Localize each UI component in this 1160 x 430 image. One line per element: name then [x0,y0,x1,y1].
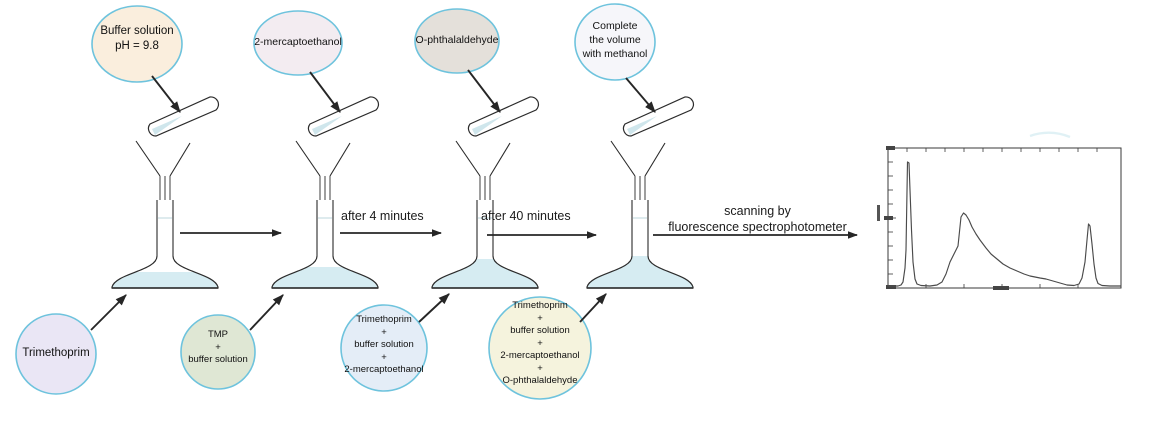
chart-watermark-smudge [1030,133,1070,137]
arrow-reagent-to-tube-3 [468,70,500,112]
reagent-ellipse-mercaptoethanol[interactable] [254,11,342,75]
test-tube-4 [624,97,694,136]
chart-plot-frame [888,148,1121,288]
workflow-vector-layer [0,0,1160,430]
funnel-stem-3 [480,176,490,200]
flask-assembly-3 [430,97,542,290]
step-label-after-4-minutes: after 4 minutes [341,208,424,224]
diagram-canvas: Buffer solution pH = 9.8 2-mercaptoethan… [0,0,1160,430]
mixture-circle-trimethoprim[interactable] [16,314,96,394]
flask-assembly-1 [110,97,222,290]
flask-assembly-4 [585,97,697,290]
flask-neck-4 [632,200,648,256]
arrow-reagent-to-tube-1 [152,76,180,112]
mixture-circle-tmp-buffer-mercapto[interactable] [341,305,427,391]
mixture-circle-tmp-buffer-mercapto-opa[interactable] [489,297,591,399]
flask-neck-2 [317,200,333,256]
arrow-mixture-to-flask-3 [419,294,449,322]
chart-y-max-label [886,146,895,150]
test-tube-3 [469,97,539,136]
test-tube-2 [309,97,379,136]
step-label-after-40-minutes: after 40 minutes [481,208,571,224]
spectrum-chart[interactable] [877,133,1121,290]
funnel-stem-1 [160,176,170,200]
funnel-3 [456,141,510,176]
reagent-ellipse-ophthalaldehyde[interactable] [415,9,499,73]
arrow-mixture-to-flask-1 [91,295,126,330]
flask-liquid-2 [270,267,382,290]
funnel-1 [136,141,190,176]
flask-assembly-2 [270,97,382,290]
reagent-ellipse-complete-volume[interactable] [575,4,655,80]
flask-neck-1 [157,200,173,256]
flask-liquid-3 [430,259,542,290]
arrow-reagent-to-tube-2 [310,72,340,112]
step-label-scanning: scanning by fluorescence spectrophotomet… [655,203,860,236]
arrow-mixture-to-flask-2 [250,295,283,330]
mixture-circle-tmp-buffer[interactable] [181,315,255,389]
chart-y-axis-title [877,205,880,221]
funnel-2 [296,141,350,176]
funnel-stem-4 [635,176,645,200]
flask-liquid-4 [585,253,697,290]
reagent-ellipse-buffer-solution[interactable] [92,6,182,82]
funnel-stem-2 [320,176,330,200]
arrow-mixture-to-flask-4 [580,294,606,322]
chart-y-mid-label [884,216,893,220]
chart-x-axis-title [993,286,1009,290]
test-tube-1 [149,97,219,136]
funnel-4 [611,141,665,176]
arrow-reagent-to-tube-4 [626,78,655,112]
